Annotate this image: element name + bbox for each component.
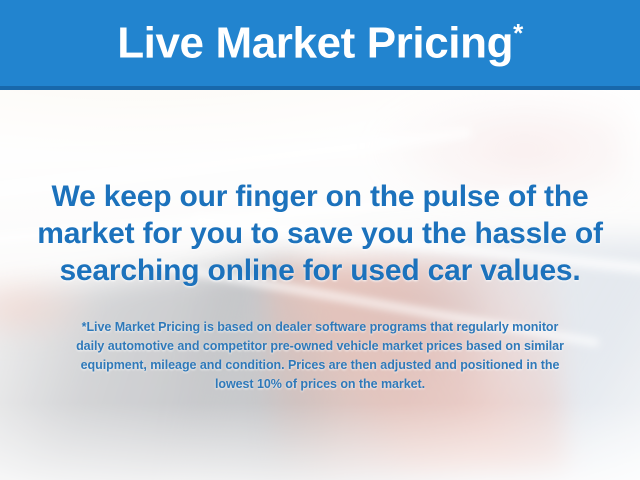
live-market-pricing-card: Live Market Pricing* We keep our finger … — [0, 0, 640, 480]
disclaimer-line-4: lowest 10% of prices on the market. — [20, 375, 620, 394]
disclaimer-text: *Live Market Pricing is based on dealer … — [20, 318, 620, 394]
headline-line-3: searching online for used car values. — [0, 252, 640, 289]
banner-title: Live Market Pricing* — [117, 20, 523, 66]
headline-line-1: We keep our finger on the pulse of the — [0, 178, 640, 215]
headline-line-2: market for you to save you the hassle of — [0, 215, 640, 252]
disclaimer-line-2: daily automotive and competitor pre-owne… — [20, 337, 620, 356]
disclaimer-line-3: equipment, mileage and condition. Prices… — [20, 356, 620, 375]
header-banner: Live Market Pricing* — [0, 0, 640, 90]
banner-title-asterisk: * — [513, 18, 523, 48]
disclaimer-line-1: *Live Market Pricing is based on dealer … — [20, 318, 620, 337]
headline: We keep our finger on the pulse of the m… — [0, 178, 640, 289]
banner-title-text: Live Market Pricing — [117, 19, 513, 68]
